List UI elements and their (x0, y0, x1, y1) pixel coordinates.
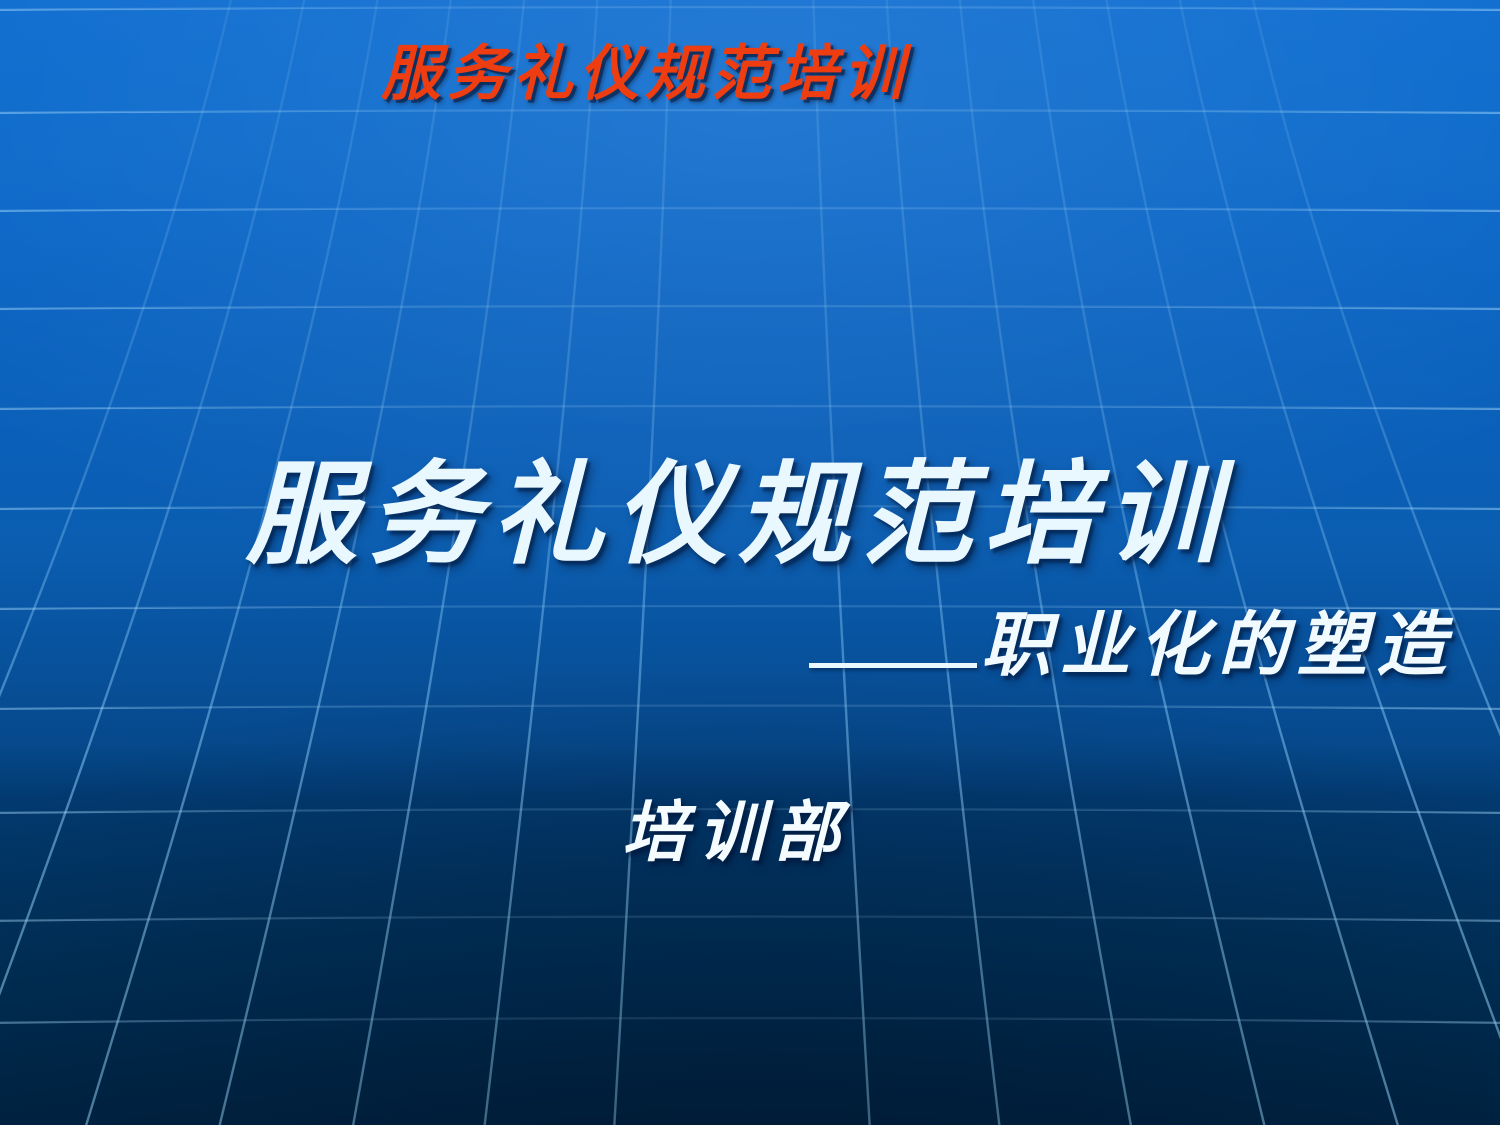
page-subtitle: 职业化的塑造 (981, 606, 1455, 684)
page-title: 服务礼仪规范培训 (0, 455, 1500, 576)
title-slide: 服务礼仪规范培训 服务礼仪规范培训 职业化的塑造 培训部 (0, 0, 1500, 1125)
em-dash-rule (809, 663, 977, 668)
department-label: 培训部 (622, 796, 850, 869)
header-title: 服务礼仪规范培训 (0, 44, 1500, 104)
subtitle-row: 职业化的塑造 (809, 606, 1455, 684)
